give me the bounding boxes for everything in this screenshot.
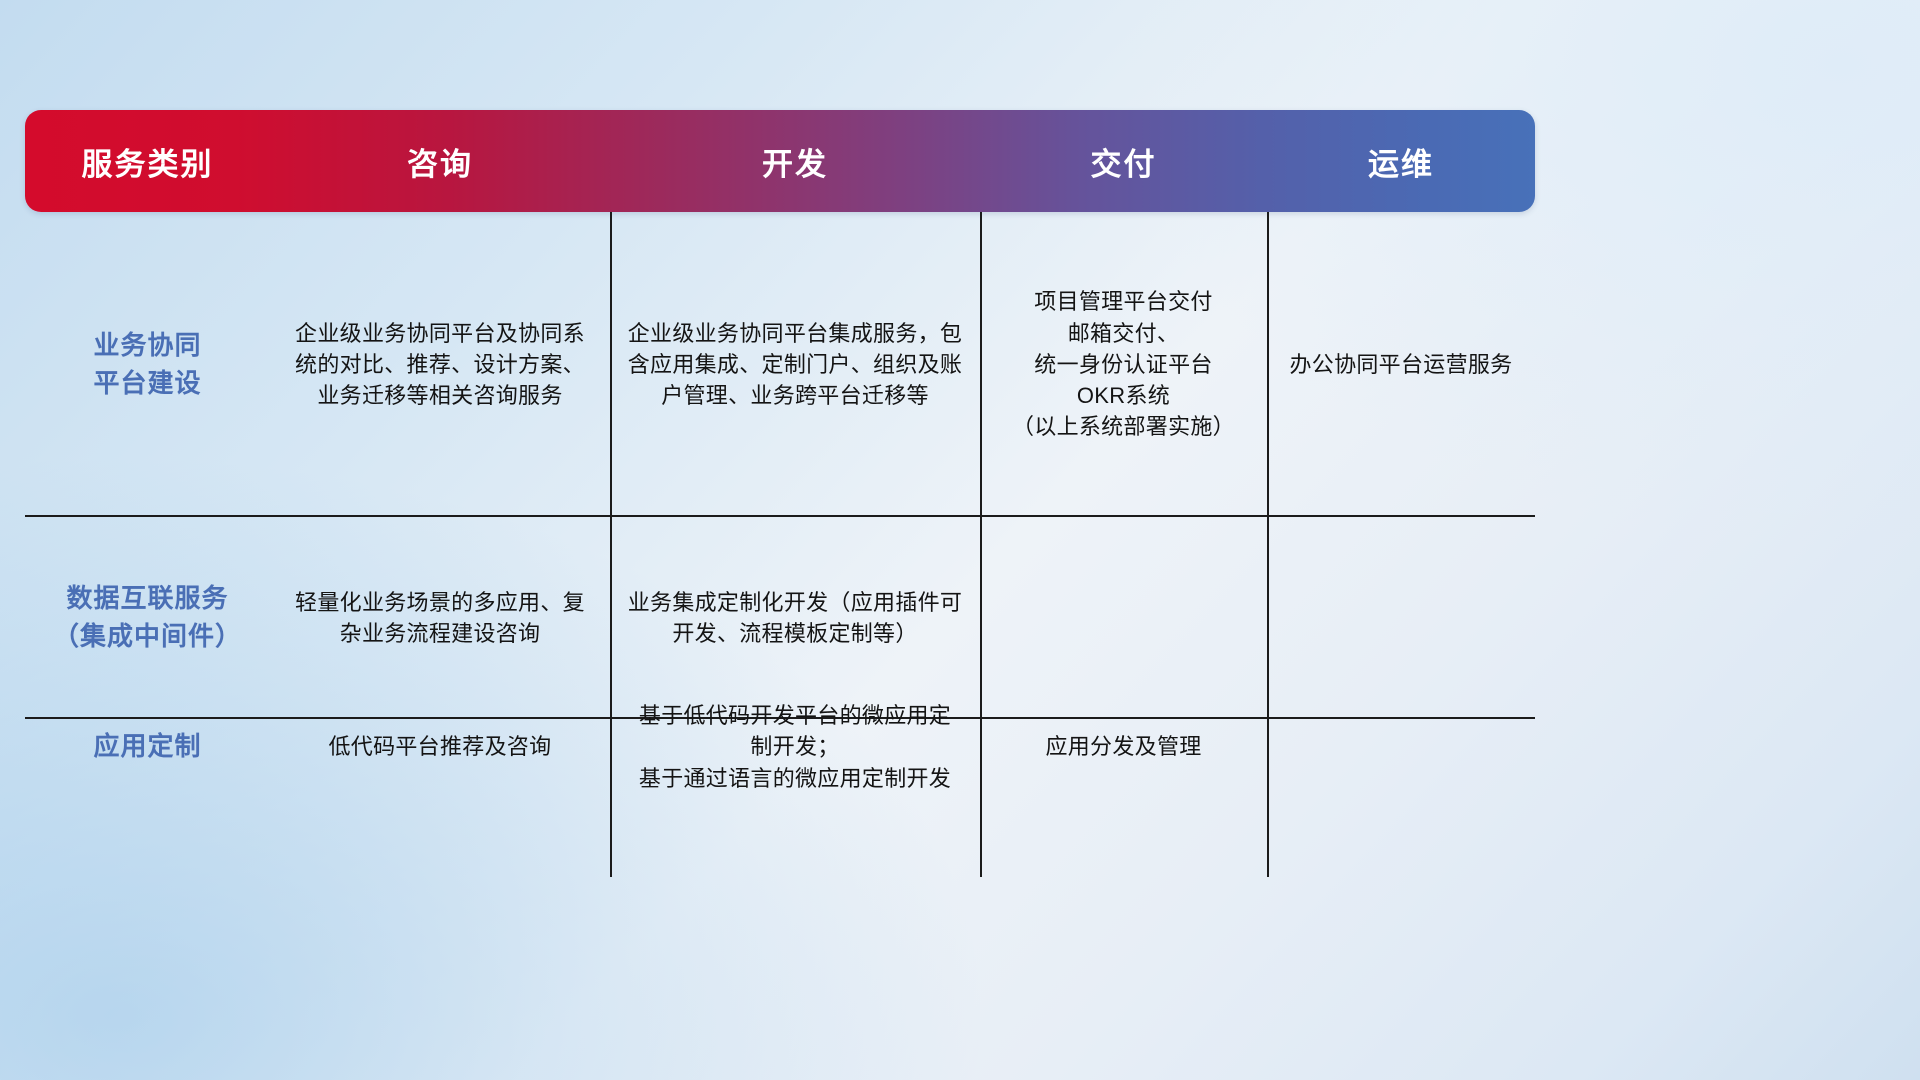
cell-row1-consulting: 企业级业务协同平台及协同系统的对比、推荐、设计方案、业务迁移等相关咨询服务 [270, 212, 610, 517]
column-header-consulting: 咨询 [270, 139, 610, 184]
column-header-operations: 运维 [1267, 139, 1535, 184]
cell-line: 项目管理平台交付 [1012, 286, 1235, 317]
row-label-line: （集成中间件） [53, 618, 242, 656]
cell-row1-operations: 办公协同平台运营服务 [1267, 212, 1535, 517]
cell-row2-consulting: 轻量化业务场景的多应用、复杂业务流程建设咨询 [270, 517, 610, 719]
row-label-data-interconnect: 数据互联服务 （集成中间件） [25, 517, 270, 719]
table-row: 业务协同 平台建设 企业级业务协同平台及协同系统的对比、推荐、设计方案、业务迁移… [25, 212, 1535, 517]
cell-row3-consulting: 低代码平台推荐及咨询 [270, 719, 610, 775]
cell-row3-delivery: 应用分发及管理 [980, 719, 1267, 775]
row-label-line: 应用定制 [93, 728, 201, 766]
row-label-app-customization: 应用定制 [25, 719, 270, 775]
cell-row2-delivery [980, 517, 1267, 719]
cell-row2-development: 业务集成定制化开发（应用插件可开发、流程模板定制等） [610, 517, 980, 719]
cell-line: 基于通过语言的微应用定制开发 [639, 763, 951, 794]
cell-row3-development: 基于低代码开发平台的微应用定 制开发； 基于通过语言的微应用定制开发 [610, 719, 980, 775]
row-label-business-collaboration: 业务协同 平台建设 [25, 212, 270, 517]
row-label-line: 业务协同 [93, 327, 201, 365]
cell-line: 统一身份认证平台 [1012, 349, 1235, 380]
column-header-development: 开发 [610, 139, 980, 184]
cell-line: （以上系统部署实施） [1012, 411, 1235, 442]
cell-line: 制开发； [639, 731, 951, 762]
cell-line: OKR系统 [1012, 380, 1235, 411]
cell-line: 邮箱交付、 [1012, 318, 1235, 349]
table-header-row: 服务类别 咨询 开发 交付 运维 [25, 110, 1535, 212]
cell-line: 基于低代码开发平台的微应用定 [639, 700, 951, 731]
column-header-category: 服务类别 [25, 139, 270, 184]
row-label-line: 平台建设 [93, 365, 201, 403]
cell-row1-delivery: 项目管理平台交付 邮箱交付、 统一身份认证平台 OKR系统 （以上系统部署实施） [980, 212, 1267, 517]
service-matrix-table: 服务类别 咨询 开发 交付 运维 业务协同 平台建设 企业级业务协同平台及协同系… [25, 110, 1535, 775]
column-header-delivery: 交付 [980, 139, 1267, 184]
cell-row1-development: 企业级业务协同平台集成服务，包含应用集成、定制门户、组织及账户管理、业务跨平台迁… [610, 212, 980, 517]
row-label-line: 数据互联服务 [53, 580, 242, 618]
slide-canvas: 服务类别 咨询 开发 交付 运维 业务协同 平台建设 企业级业务协同平台及协同系… [0, 0, 1920, 1080]
cell-row2-operations [1267, 517, 1535, 719]
cell-row3-operations [1267, 719, 1535, 775]
table-row: 应用定制 低代码平台推荐及咨询 基于低代码开发平台的微应用定 制开发； 基于通过… [25, 719, 1535, 775]
table-body: 业务协同 平台建设 企业级业务协同平台及协同系统的对比、推荐、设计方案、业务迁移… [25, 212, 1535, 775]
table-row: 数据互联服务 （集成中间件） 轻量化业务场景的多应用、复杂业务流程建设咨询 业务… [25, 517, 1535, 719]
